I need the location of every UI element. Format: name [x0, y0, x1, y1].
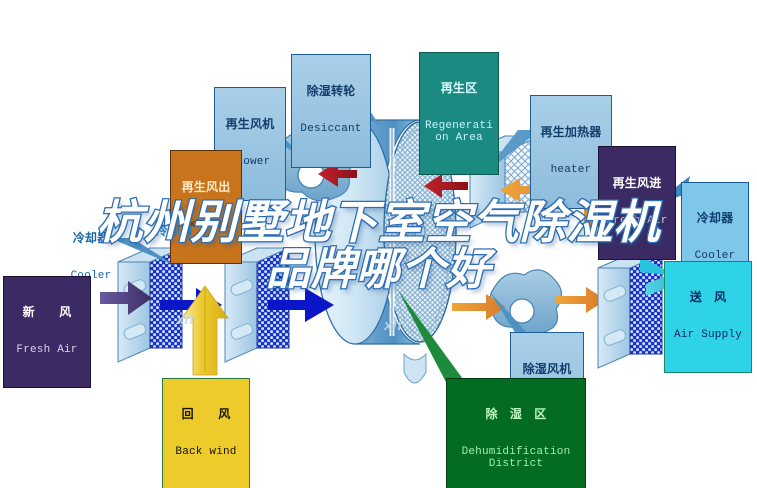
label-air-supply[interactable]: 送 风 Air Supply	[664, 261, 752, 373]
label-fresh-air-cn: 新 风	[7, 306, 87, 319]
label-desiccant-cn: 除湿转轮	[295, 85, 367, 98]
svg-text:xh: xh	[383, 317, 402, 334]
label-air-supply-cn: 送 风	[668, 291, 748, 304]
label-regeneration-area[interactable]: 再生区 Regenerati on Area	[419, 52, 499, 175]
label-cooler-mid[interactable]: 冷却器	[146, 196, 202, 268]
label-regen-heater-en: heater	[534, 165, 608, 177]
label-back-wind-en: Back wind	[166, 447, 246, 459]
label-desiccant-en: Desiccant	[295, 124, 367, 136]
label-dehumidification-district-cn: 除 湿 区	[450, 408, 582, 421]
label-cooler-mid-cn: 冷却器	[149, 225, 199, 238]
label-regen-blower-cn: 再生风机	[218, 118, 282, 131]
label-fresh-air[interactable]: 新 风 Fresh Air	[3, 276, 91, 388]
label-back-wind[interactable]: 回 风 Back wind	[162, 378, 250, 488]
label-cooler-right-cn: 冷却器	[684, 212, 746, 225]
label-regeneration-area-cn: 再生区	[422, 82, 496, 95]
label-dehumidification-district[interactable]: 除 湿 区 Dehumidification District	[446, 378, 586, 488]
label-regeneration-area-en: Regenerati on Area	[422, 121, 496, 145]
label-regen-heater-cn: 再生加热器	[534, 126, 608, 139]
label-regen-fresh-air-en: Fresh Air	[602, 216, 672, 228]
label-cooler-left-cn: 冷却器	[61, 232, 121, 245]
label-desiccant[interactable]: 除湿转轮 Desiccant	[291, 54, 371, 168]
label-regen-fresh-air[interactable]: 再生风进 Fresh Air	[598, 146, 676, 260]
label-dehum-blower-cn: 除湿风机	[514, 363, 580, 376]
label-exhaust-cn: 再生风出	[174, 181, 238, 194]
label-dehumidification-district-en: Dehumidification District	[450, 447, 582, 471]
label-air-supply-en: Air Supply	[668, 330, 748, 342]
svg-text:xh: xh	[175, 311, 194, 328]
dehum-blower	[452, 270, 606, 335]
label-back-wind-cn: 回 风	[166, 408, 246, 421]
dehumidifier-diagram: xh xh 除湿转轮 Desiccant 再生风机 Blower 再生区 Reg…	[0, 0, 757, 488]
label-fresh-air-en: Fresh Air	[7, 345, 87, 357]
label-regen-fresh-air-cn: 再生风进	[602, 177, 672, 190]
